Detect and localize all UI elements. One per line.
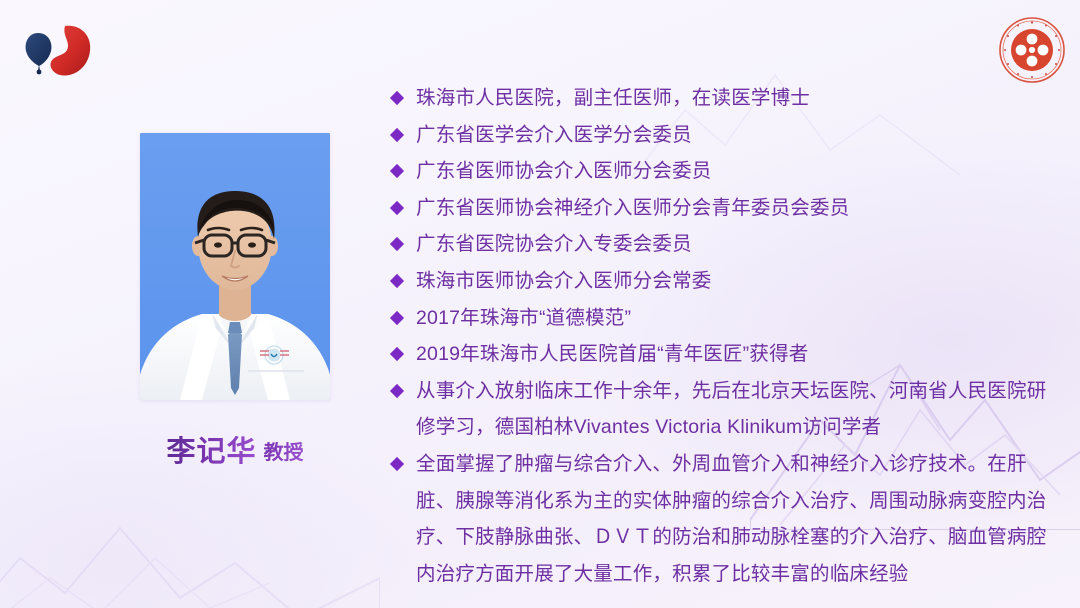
diamond-bullet-icon (390, 384, 404, 398)
bio-list-item: 广东省医师协会神经介入医师分会青年委员会委员 (390, 190, 1062, 227)
doctor-title: 教授 (264, 442, 304, 464)
slide-root: 李记华教授 珠海市人民医院，副主任医师，在读医学博士广东省医学会介入医学分会委员… (0, 0, 1080, 608)
bio-list-item-text: 广东省医师协会介入医师分会委员 (416, 153, 1062, 190)
diamond-bullet-icon (390, 310, 404, 324)
diamond-bullet-icon (390, 237, 404, 251)
diamond-bullet-icon (390, 164, 404, 178)
bio-list-item: 全面掌握了肿瘤与综合介入、外周血管介入和神经介入诊疗技术。在肝脏、胰腺等消化系为… (390, 446, 1062, 592)
bio-list-item-text: 广东省医学会介入医学分会委员 (416, 117, 1062, 154)
bio-list-item-text: 广东省医师协会神经介入医师分会青年委员会委员 (416, 190, 1062, 227)
portrait-frame (140, 133, 330, 400)
bio-list-item: 从事介入放射临床工作十余年，先后在北京天坛医院、河南省人民医院研修学习，德国柏林… (390, 373, 1062, 446)
diamond-bullet-icon (390, 457, 404, 471)
bio-list-item-text: 广东省医院协会介入专委会委员 (416, 226, 1062, 263)
diamond-bullet-icon (390, 128, 404, 142)
bio-list-item-text: 2019年珠海市人民医院首届“青年医匠”获得者 (416, 336, 1062, 373)
bio-list-item: 广东省医院协会介入专委会委员 (390, 226, 1062, 263)
diamond-bullet-icon (390, 347, 404, 361)
bio-list-item: 珠海市医师协会介入医师分会常委 (390, 263, 1062, 300)
blue-red-ribbon-logo (18, 18, 96, 80)
doctor-portrait-photo (140, 133, 330, 400)
doctor-name: 李记华 (166, 436, 256, 468)
bio-list-item-text: 珠海市人民医院，副主任医师，在读医学博士 (416, 80, 1062, 117)
bio-bullet-list: 珠海市人民医院，副主任医师，在读医学博士广东省医学会介入医学分会委员广东省医师协… (390, 80, 1062, 592)
bio-list-item: 珠海市人民医院，副主任医师，在读医学博士 (390, 80, 1062, 117)
bio-list-item-text: 从事介入放射临床工作十余年，先后在北京天坛医院、河南省人民医院研修学习，德国柏林… (416, 373, 1062, 446)
bio-list-item: 2017年珠海市“道德模范” (390, 300, 1062, 337)
diamond-bullet-icon (390, 91, 404, 105)
diamond-bullet-icon (390, 201, 404, 215)
bio-list-item-text: 全面掌握了肿瘤与综合介入、外周血管介入和神经介入诊疗技术。在肝脏、胰腺等消化系为… (416, 446, 1062, 592)
diamond-bullet-icon (390, 274, 404, 288)
bio-list-item: 广东省医师协会介入医师分会委员 (390, 153, 1062, 190)
bio-list-item: 广东省医学会介入医学分会委员 (390, 117, 1062, 154)
bio-list-item: 2019年珠海市人民医院首届“青年医匠”获得者 (390, 336, 1062, 373)
bio-list-item-text: 珠海市医师协会介入医师分会常委 (416, 263, 1062, 300)
bio-list-item-text: 2017年珠海市“道德模范” (416, 300, 1062, 337)
hospital-seal-logo (998, 16, 1066, 84)
